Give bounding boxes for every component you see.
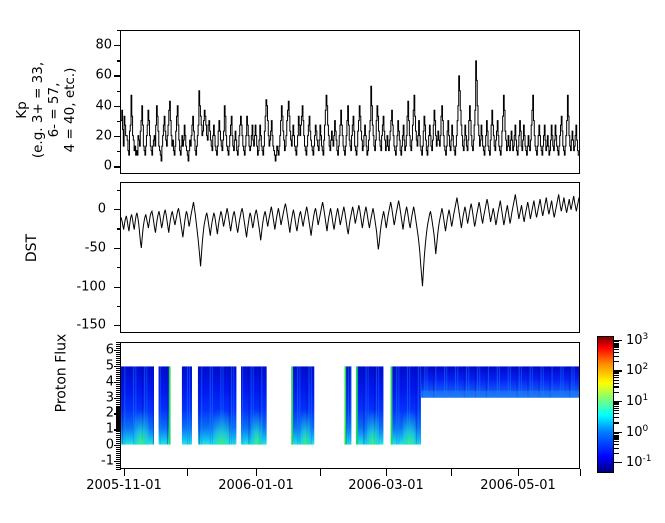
kp-series-svg — [121, 31, 579, 173]
y-tick-label: 1 — [106, 423, 114, 436]
x-major-tick — [386, 469, 387, 476]
colorbar-minor-tick — [614, 435, 619, 436]
colorbar-minor-tick — [614, 377, 619, 378]
dst-series-svg — [121, 183, 579, 332]
colorbar-major-tick — [614, 370, 622, 371]
y-tick-label: -100 — [76, 280, 106, 293]
colorbar-minor-tick — [614, 408, 619, 409]
colorbar-minor-tick — [614, 356, 619, 357]
flux-axis-title-text: Proton Flux — [53, 334, 69, 413]
colorbar-minor-tick — [614, 386, 619, 387]
x-tick-label: 2005-11-01 — [86, 478, 162, 493]
flux-axis-title: Proton Flux — [22, 365, 101, 381]
y-tick-label: 40 — [95, 99, 112, 112]
panel-flux — [120, 342, 580, 469]
colorbar-tick-label: 100 — [626, 423, 648, 439]
colorbar-minor-tick — [614, 383, 619, 384]
colorbar-minor-tick — [614, 413, 619, 414]
colorbar-tickmarks — [614, 336, 624, 473]
y-tick-label: 2 — [106, 407, 114, 420]
x-tick-label: 2006-05-01 — [480, 478, 556, 493]
x-major-tick — [518, 469, 519, 476]
colorbar-minor-tick — [614, 410, 619, 411]
panel-dst — [120, 182, 580, 333]
colorbar-minor-tick — [614, 343, 619, 344]
colorbar-minor-tick — [614, 433, 619, 434]
dst-plot-area — [121, 183, 579, 332]
colorbar-minor-tick — [614, 404, 619, 405]
colorbar-minor-tick — [614, 417, 619, 418]
y-tick-label: 4 — [106, 375, 114, 388]
x-axis: 2005-11-012006-01-012006-03-012006-05-01 — [120, 469, 580, 509]
y-tick-label: 80 — [95, 39, 112, 52]
y-tick-label: 3 — [106, 391, 114, 404]
x-major-tick — [580, 469, 581, 476]
colorbar-minor-tick — [614, 406, 619, 407]
y-tick-label: 0 — [106, 439, 114, 452]
y-tick-label: 0 — [98, 203, 106, 216]
colorbar-minor-tick — [614, 441, 619, 442]
flux-plot-area — [121, 343, 579, 468]
colorbar-major-tick — [614, 401, 622, 402]
colorbar-minor-tick — [614, 344, 619, 345]
x-major-tick — [124, 469, 125, 476]
y-tick-label: 6 — [106, 343, 114, 356]
colorbar-minor-tick — [614, 341, 619, 342]
colorbar-tick-label: 102 — [626, 362, 648, 378]
panel-kp — [120, 30, 580, 174]
colorbar-minor-tick — [614, 352, 619, 353]
colorbar-ticklabels: 10-1100101102103 — [626, 336, 665, 473]
x-tick-label: 2006-03-01 — [348, 478, 424, 493]
y-tick-label: 0 — [104, 160, 112, 173]
colorbar-minor-tick — [614, 438, 619, 439]
colorbar-gradient — [597, 336, 614, 473]
kp-y-ticklabels: 020406080 — [84, 30, 112, 174]
colorbar-tick-label: 103 — [626, 332, 648, 348]
x-major-tick — [320, 469, 321, 476]
kp-axis-title-line: 6- = 57, — [46, 55, 62, 165]
y-tick-label: 60 — [95, 69, 112, 82]
colorbar-minor-tick — [614, 380, 619, 381]
colorbar-tick-label: 101 — [626, 393, 648, 409]
kp-plot-area — [121, 31, 579, 173]
colorbar-minor-tick — [614, 373, 619, 374]
colorbar-minor-tick — [614, 375, 619, 376]
dst-axis-title: DST — [18, 240, 46, 256]
colorbar-major-tick — [614, 462, 622, 463]
colorbar-minor-tick — [614, 436, 619, 437]
x-major-tick — [256, 469, 257, 476]
y-tick-label: -50 — [85, 241, 106, 254]
kp-axis-title-line: (e.g. 3+ = 33, — [30, 55, 46, 165]
colorbar-minor-tick — [614, 444, 619, 445]
colorbar-major-tick — [614, 340, 622, 341]
colorbar-minor-tick — [614, 372, 619, 373]
y-tick-label: 20 — [95, 130, 112, 143]
colorbar-minor-tick — [614, 349, 619, 350]
colorbar-minor-tick — [614, 346, 619, 347]
colorbar-major-tick — [614, 432, 622, 433]
dst-axis-title-text: DST — [24, 234, 40, 262]
dst-y-ticklabels: 0-50-100-150 — [78, 182, 106, 333]
x-major-tick — [451, 469, 452, 476]
flux-heatmap-svg — [121, 343, 579, 468]
colorbar-minor-tick — [614, 361, 619, 362]
kp-axis-title-line: Kp — [14, 55, 30, 165]
colorbar-minor-tick — [614, 422, 619, 423]
y-tick-label: 5 — [106, 359, 114, 372]
colorbar-minor-tick — [614, 453, 619, 454]
colorbar-minor-tick — [614, 402, 619, 403]
flux-y-ticklabels: 6543210-1 — [86, 342, 114, 469]
y-tick-label: -150 — [76, 319, 106, 332]
x-major-tick — [187, 469, 188, 476]
colorbar-tick-label: 10-1 — [626, 454, 652, 470]
y-tick-label: -1 — [101, 455, 114, 468]
kp-axis-title-line: 4 = 40, etc.) — [62, 55, 78, 165]
colorbar-minor-tick — [614, 448, 619, 449]
figure-root: 020406080 Kp(e.g. 3+ = 33,6- = 57,4 = 40… — [0, 0, 665, 523]
x-tick-label: 2006-01-01 — [218, 478, 294, 493]
colorbar-minor-tick — [614, 392, 619, 393]
